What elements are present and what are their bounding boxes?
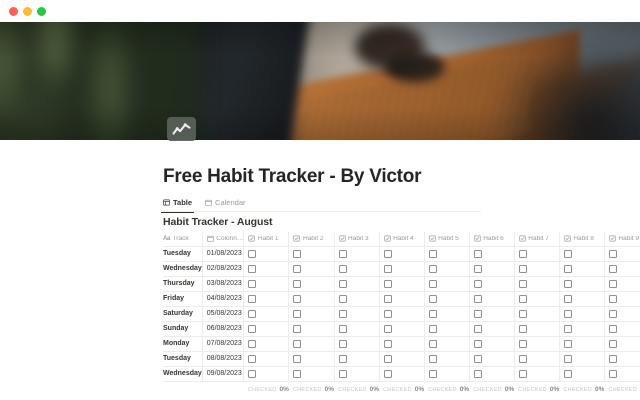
checkbox-icon[interactable] (248, 355, 256, 363)
window-maximize-button[interactable] (37, 7, 46, 16)
column-header-label: Habit 7 (528, 236, 549, 243)
cell-habit-2[interactable] (289, 276, 334, 291)
aggregate-value: 0% (325, 386, 334, 393)
cell-habit-6[interactable] (469, 291, 514, 306)
cell-habit-6[interactable] (469, 351, 514, 366)
cell-track[interactable]: Wednesday (163, 261, 202, 276)
aggregate-value: 0% (415, 386, 424, 393)
cell-habit-8[interactable] (559, 366, 604, 381)
checkbox-icon (293, 235, 300, 242)
table-row[interactable]: Wednesday09/08/2023 (163, 366, 640, 381)
cell-habit-4[interactable] (379, 246, 424, 261)
cell-habit-3[interactable] (334, 336, 379, 351)
cell-habit-8[interactable] (559, 246, 604, 261)
cell-habit-6[interactable] (469, 306, 514, 321)
window-minimize-button[interactable] (23, 7, 32, 16)
checkbox-icon (429, 235, 436, 242)
checkbox-icon[interactable] (609, 370, 617, 378)
checkbox-icon[interactable] (609, 280, 617, 288)
checkbox-icon[interactable] (474, 265, 482, 273)
cell-habit-1[interactable] (244, 261, 289, 276)
aggregate-label: Checked (383, 387, 412, 393)
checkbox-icon[interactable] (293, 265, 301, 273)
footer-aggregate-habit-1[interactable]: Checked0% (244, 381, 289, 398)
checkbox-icon[interactable] (519, 265, 527, 273)
cell-date[interactable]: 01/08/2023 (202, 246, 244, 261)
tab-table[interactable]: Table (163, 195, 192, 210)
checkbox-icon[interactable] (339, 280, 347, 288)
cell-habit-3[interactable] (334, 276, 379, 291)
window-titlebar (0, 0, 640, 22)
aggregate-value: 0% (280, 386, 289, 393)
cell-habit-6[interactable] (469, 336, 514, 351)
cell-habit-1[interactable] (244, 366, 289, 381)
cover-artwork (0, 22, 640, 140)
title-aa-icon: Aa (163, 235, 170, 242)
checkbox-icon[interactable] (384, 295, 392, 303)
cell-habit-8[interactable] (559, 351, 604, 366)
aggregate-value: 0% (460, 386, 469, 393)
column-header-habit-5[interactable]: Habit 5 (424, 232, 469, 246)
cell-habit-3[interactable] (334, 291, 379, 306)
checkbox-icon[interactable] (519, 325, 527, 333)
footer-aggregate-habit-6[interactable]: Checked0% (469, 381, 514, 398)
cell-habit-2[interactable] (289, 306, 334, 321)
checkbox-icon (474, 235, 481, 242)
checkbox-icon[interactable] (339, 265, 347, 273)
aggregate-value: 0% (550, 386, 559, 393)
checkbox-icon[interactable] (293, 325, 301, 333)
checkbox-icon[interactable] (474, 295, 482, 303)
checkbox-icon[interactable] (429, 325, 437, 333)
table-row[interactable]: Wednesday02/08/2023 (163, 261, 640, 276)
checkbox-icon[interactable] (429, 340, 437, 348)
cell-habit-3[interactable] (334, 246, 379, 261)
checkbox-icon[interactable] (474, 310, 482, 318)
checkbox-icon[interactable] (293, 280, 301, 288)
cell-date[interactable]: 02/08/2023 (202, 261, 244, 276)
checkbox-icon[interactable] (564, 265, 572, 273)
cell-habit-8[interactable] (559, 336, 604, 351)
column-header-habit-6[interactable]: Habit 6 (469, 232, 514, 246)
cell-habit-1[interactable] (244, 351, 289, 366)
checkbox-icon[interactable] (564, 310, 572, 318)
checkbox-icon[interactable] (564, 370, 572, 378)
checkbox-icon[interactable] (609, 265, 617, 273)
checkbox-icon (384, 235, 391, 242)
aggregate-label: Checked (473, 387, 502, 393)
cell-habit-9[interactable] (604, 246, 640, 261)
cell-habit-8[interactable] (559, 306, 604, 321)
cell-habit-7[interactable] (514, 321, 559, 336)
checkbox-icon[interactable] (384, 355, 392, 363)
column-header-track[interactable]: AaTrack (163, 232, 202, 246)
cell-habit-1[interactable] (244, 306, 289, 321)
table-row[interactable]: Saturday05/08/2023 (163, 306, 640, 321)
checkbox-icon[interactable] (339, 295, 347, 303)
table-row[interactable]: Tuesday01/08/2023 (163, 246, 640, 261)
checkbox-icon[interactable] (564, 280, 572, 288)
cell-habit-4[interactable] (379, 306, 424, 321)
cell-habit-1[interactable] (244, 291, 289, 306)
database-title[interactable]: Habit Tracker - August (163, 216, 272, 228)
cell-track[interactable]: Monday (163, 336, 202, 351)
tabs-divider (163, 211, 481, 212)
cell-habit-5[interactable] (424, 351, 469, 366)
checkbox-icon[interactable] (474, 280, 482, 288)
cell-habit-6[interactable] (469, 261, 514, 276)
tab-calendar-label: Calendar (215, 199, 245, 207)
cell-habit-9[interactable] (604, 291, 640, 306)
footer-aggregate-habit-7[interactable]: Checked0% (514, 381, 559, 398)
checkbox-icon[interactable] (384, 280, 392, 288)
cell-habit-2[interactable] (289, 351, 334, 366)
date-icon (207, 235, 214, 242)
cell-habit-3[interactable] (334, 306, 379, 321)
cell-habit-4[interactable] (379, 261, 424, 276)
column-header-label: Habit 4 (393, 236, 414, 243)
footer-spacer (202, 381, 244, 398)
aggregate-label: Checked (518, 387, 547, 393)
checkbox-icon[interactable] (564, 295, 572, 303)
aggregate-value: 0% (370, 386, 379, 393)
cell-habit-3[interactable] (334, 321, 379, 336)
cell-track[interactable]: Sunday (163, 321, 202, 336)
cell-habit-9[interactable] (604, 321, 640, 336)
footer-aggregate-habit-4[interactable]: Checked0% (379, 381, 424, 398)
footer-aggregate-habit-5[interactable]: Checked0% (424, 381, 469, 398)
checkbox-icon[interactable] (564, 355, 572, 363)
cell-habit-2[interactable] (289, 261, 334, 276)
checkbox-icon[interactable] (474, 370, 482, 378)
checkbox-icon[interactable] (248, 310, 256, 318)
cell-habit-9[interactable] (604, 276, 640, 291)
checkbox-icon[interactable] (293, 295, 301, 303)
cell-habit-7[interactable] (514, 276, 559, 291)
cell-habit-9[interactable] (604, 261, 640, 276)
checkbox-icon[interactable] (384, 265, 392, 273)
checkbox-icon[interactable] (609, 295, 617, 303)
checkbox-icon[interactable] (609, 310, 617, 318)
cell-habit-8[interactable] (559, 291, 604, 306)
cell-habit-5[interactable] (424, 276, 469, 291)
checkbox-icon[interactable] (429, 280, 437, 288)
cell-date[interactable]: 09/08/2023 (202, 366, 244, 381)
cell-habit-8[interactable] (559, 321, 604, 336)
database-table: AaTrackColonn…Habit 1Habit 2Habit 3Habit… (163, 232, 640, 398)
column-header-label: Habit 5 (438, 236, 459, 243)
checkbox-icon[interactable] (474, 325, 482, 333)
aggregate-label: Checked (563, 387, 592, 393)
checkbox-icon[interactable] (248, 370, 256, 378)
column-header-habit-7[interactable]: Habit 7 (514, 232, 559, 246)
cell-habit-3[interactable] (334, 351, 379, 366)
checkbox-icon[interactable] (339, 310, 347, 318)
cell-habit-5[interactable] (424, 336, 469, 351)
checkbox-icon[interactable] (429, 265, 437, 273)
cell-habit-1[interactable] (244, 336, 289, 351)
table-row[interactable]: Monday07/08/2023 (163, 336, 640, 351)
cell-habit-7[interactable] (514, 246, 559, 261)
cell-date[interactable]: 08/08/2023 (202, 351, 244, 366)
cell-habit-6[interactable] (469, 321, 514, 336)
cell-habit-6[interactable] (469, 276, 514, 291)
checkbox-icon[interactable] (248, 250, 256, 258)
checkbox-icon[interactable] (293, 250, 301, 258)
checkbox-icon[interactable] (384, 310, 392, 318)
column-header-label: Habit 3 (348, 236, 369, 243)
cell-habit-8[interactable] (559, 261, 604, 276)
checkbox-icon[interactable] (339, 325, 347, 333)
aggregate-label: Checked (338, 387, 367, 393)
aggregate-label: Checked (608, 387, 637, 393)
cell-track[interactable]: Thursday (163, 276, 202, 291)
checkbox-icon[interactable] (339, 355, 347, 363)
cell-habit-9[interactable] (604, 336, 640, 351)
app-window: Free Habit Tracker - By Victor Table (0, 0, 640, 400)
cell-habit-8[interactable] (559, 276, 604, 291)
checkbox-icon[interactable] (429, 250, 437, 258)
footer-spacer (163, 381, 202, 398)
cell-habit-5[interactable] (424, 291, 469, 306)
cell-habit-1[interactable] (244, 321, 289, 336)
page-cover-image[interactable] (0, 22, 640, 140)
checkbox-icon (248, 235, 255, 242)
checkbox-icon[interactable] (248, 340, 256, 348)
checkbox-icon[interactable] (519, 280, 527, 288)
table-footer-row: Checked0%Checked0%Checked0%Checked0%Chec… (163, 381, 640, 398)
checkbox-icon[interactable] (248, 295, 256, 303)
checkbox-icon[interactable] (519, 250, 527, 258)
page-content: Free Habit Tracker - By Victor Table (0, 140, 640, 400)
column-header-label: Track (173, 236, 189, 243)
cell-habit-3[interactable] (334, 366, 379, 381)
checkbox-icon[interactable] (609, 355, 617, 363)
checkbox-icon[interactable] (384, 370, 392, 378)
table-row[interactable]: Sunday06/08/2023 (163, 321, 640, 336)
cell-habit-5[interactable] (424, 246, 469, 261)
column-header-habit-4[interactable]: Habit 4 (379, 232, 424, 246)
cell-track[interactable]: Saturday (163, 306, 202, 321)
checkbox-icon[interactable] (248, 280, 256, 288)
checkbox-icon[interactable] (609, 325, 617, 333)
checkbox-icon[interactable] (609, 340, 617, 348)
cell-habit-4[interactable] (379, 321, 424, 336)
column-header-label: Habit 6 (483, 236, 504, 243)
checkbox-icon[interactable] (339, 370, 347, 378)
aggregate-value: 0% (595, 386, 604, 393)
checkbox-icon[interactable] (293, 340, 301, 348)
checkbox-icon[interactable] (519, 370, 527, 378)
checkbox-icon[interactable] (519, 295, 527, 303)
cell-habit-7[interactable] (514, 336, 559, 351)
cell-habit-7[interactable] (514, 366, 559, 381)
column-header-habit-2[interactable]: Habit 2 (289, 232, 334, 246)
checkbox-icon[interactable] (293, 310, 301, 318)
checkbox-icon (339, 235, 346, 242)
checkbox-icon[interactable] (339, 340, 347, 348)
tab-table-label: Table (173, 199, 192, 207)
cell-habit-6[interactable] (469, 366, 514, 381)
checkbox-icon[interactable] (564, 250, 572, 258)
column-header-habit-9[interactable]: Habit 9 (604, 232, 640, 246)
checkbox-icon[interactable] (429, 370, 437, 378)
checkbox-icon[interactable] (429, 295, 437, 303)
cell-habit-4[interactable] (379, 276, 424, 291)
cell-habit-4[interactable] (379, 366, 424, 381)
column-header-label: Colonn… (216, 236, 243, 243)
column-header-colonn[interactable]: Colonn… (202, 232, 244, 246)
aggregate-label: Checked (248, 387, 277, 393)
cell-habit-2[interactable] (289, 291, 334, 306)
cell-habit-4[interactable] (379, 336, 424, 351)
aggregate-value: 0% (505, 386, 514, 393)
cell-habit-5[interactable] (424, 321, 469, 336)
checkbox-icon (609, 235, 616, 242)
checkbox-icon[interactable] (474, 340, 482, 348)
footer-aggregate-habit-2[interactable]: Checked0% (289, 381, 334, 398)
cell-habit-5[interactable] (424, 306, 469, 321)
checkbox-icon[interactable] (564, 325, 572, 333)
calendar-icon (205, 199, 212, 206)
footer-aggregate-habit-3[interactable]: Checked0% (334, 381, 379, 398)
cell-habit-9[interactable] (604, 306, 640, 321)
checkbox-icon[interactable] (519, 355, 527, 363)
cell-habit-9[interactable] (604, 366, 640, 381)
checkbox-icon[interactable] (519, 340, 527, 348)
cell-habit-1[interactable] (244, 276, 289, 291)
cell-habit-5[interactable] (424, 261, 469, 276)
checkbox-icon (564, 235, 571, 242)
cell-habit-7[interactable] (514, 291, 559, 306)
checkbox-icon[interactable] (248, 325, 256, 333)
checkbox-icon[interactable] (609, 250, 617, 258)
cell-habit-2[interactable] (289, 336, 334, 351)
table-header-row: AaTrackColonn…Habit 1Habit 2Habit 3Habit… (163, 232, 640, 246)
column-header-label: Habit 1 (258, 236, 279, 243)
checkbox-icon[interactable] (429, 355, 437, 363)
cell-date[interactable]: 03/08/2023 (202, 276, 244, 291)
aggregate-label: Checked (293, 387, 322, 393)
cell-habit-2[interactable] (289, 246, 334, 261)
cell-habit-3[interactable] (334, 261, 379, 276)
page-title[interactable]: Free Habit Tracker - By Victor (163, 166, 421, 188)
window-close-button[interactable] (9, 7, 18, 16)
aggregate-label: Checked (428, 387, 457, 393)
checkbox-icon[interactable] (248, 265, 256, 273)
checkbox-icon (519, 235, 526, 242)
cell-date[interactable]: 05/08/2023 (202, 306, 244, 321)
column-header-label: Habit 2 (303, 236, 324, 243)
cell-habit-4[interactable] (379, 351, 424, 366)
column-header-habit-8[interactable]: Habit 8 (559, 232, 604, 246)
view-tabs: Table Calendar (163, 195, 245, 210)
cell-track[interactable]: Tuesday (163, 246, 202, 261)
footer-aggregate-habit-8[interactable]: Checked0% (559, 381, 604, 398)
checkbox-icon[interactable] (293, 370, 301, 378)
cell-habit-7[interactable] (514, 261, 559, 276)
checkbox-icon[interactable] (384, 340, 392, 348)
cell-habit-1[interactable] (244, 246, 289, 261)
cell-habit-7[interactable] (514, 351, 559, 366)
cell-track[interactable]: Tuesday (163, 351, 202, 366)
checkbox-icon[interactable] (339, 250, 347, 258)
cell-habit-9[interactable] (604, 351, 640, 366)
table-row[interactable]: Tuesday08/08/2023 (163, 351, 640, 366)
column-header-label: Habit 9 (618, 236, 639, 243)
checkbox-icon[interactable] (474, 250, 482, 258)
checkbox-icon[interactable] (429, 310, 437, 318)
table-row[interactable]: Friday04/08/2023 (163, 291, 640, 306)
column-header-habit-1[interactable]: Habit 1 (244, 232, 289, 246)
cell-date[interactable]: 04/08/2023 (202, 291, 244, 306)
cell-date[interactable]: 07/08/2023 (202, 336, 244, 351)
cell-track[interactable]: Friday (163, 291, 202, 306)
checkbox-icon[interactable] (384, 250, 392, 258)
cell-habit-2[interactable] (289, 366, 334, 381)
checkbox-icon[interactable] (564, 340, 572, 348)
cell-habit-7[interactable] (514, 306, 559, 321)
cell-habit-5[interactable] (424, 366, 469, 381)
cell-habit-6[interactable] (469, 246, 514, 261)
checkbox-icon[interactable] (384, 325, 392, 333)
cell-habit-2[interactable] (289, 321, 334, 336)
column-header-habit-3[interactable]: Habit 3 (334, 232, 379, 246)
cell-track[interactable]: Wednesday (163, 366, 202, 381)
footer-aggregate-habit-9[interactable]: Checked0% (604, 381, 640, 398)
checkbox-icon[interactable] (293, 355, 301, 363)
tab-calendar[interactable]: Calendar (205, 195, 245, 210)
checkbox-icon[interactable] (474, 355, 482, 363)
table-icon (163, 199, 170, 206)
cell-habit-4[interactable] (379, 291, 424, 306)
cell-date[interactable]: 06/08/2023 (202, 321, 244, 336)
checkbox-icon[interactable] (519, 310, 527, 318)
database-table-scroll[interactable]: AaTrackColonn…Habit 1Habit 2Habit 3Habit… (163, 232, 640, 398)
table-row[interactable]: Thursday03/08/2023 (163, 276, 640, 291)
column-header-label: Habit 8 (573, 236, 594, 243)
chart-line-icon[interactable] (167, 117, 196, 141)
